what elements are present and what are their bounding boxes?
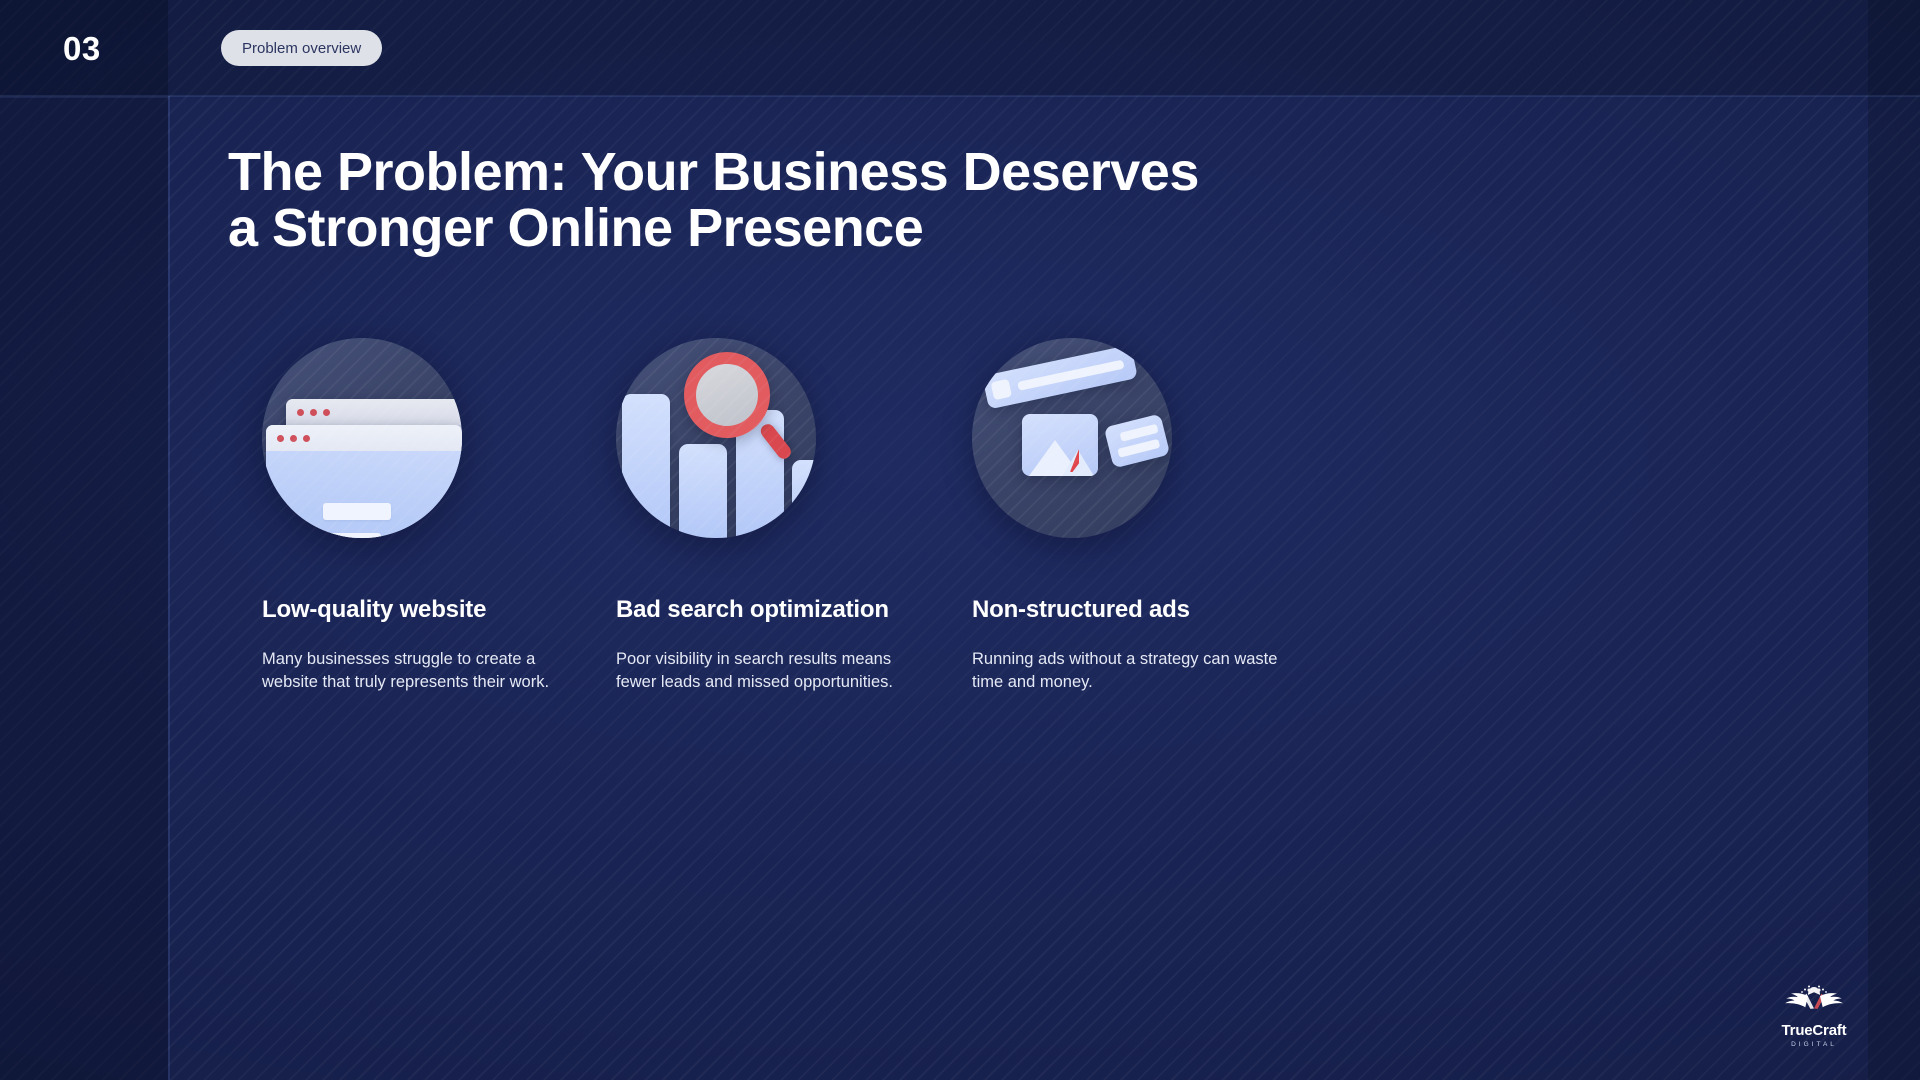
card-description: Running ads without a strategy can waste… xyxy=(972,648,1282,695)
ad-text-bar xyxy=(1017,360,1125,391)
ad-text-bar xyxy=(1117,439,1160,458)
ad-image-card xyxy=(1022,414,1098,476)
content-placeholder-bar xyxy=(299,533,381,538)
brand-logo: TrueCraft DIGITAL xyxy=(1762,976,1866,1048)
browser-windows-icon xyxy=(262,338,462,538)
slide-root: 03 Problem overview The Problem: Your Bu… xyxy=(0,0,1920,1080)
card-title: Low-quality website xyxy=(262,596,640,624)
header-divider-left xyxy=(0,97,168,98)
sidebar-divider xyxy=(168,96,170,1080)
window-dot-red xyxy=(310,409,317,416)
section-badge: Problem overview xyxy=(221,30,382,66)
browser-titlebar xyxy=(266,425,462,451)
magnifier-lens xyxy=(684,352,770,438)
chart-bar xyxy=(679,444,727,538)
chart-bar xyxy=(792,460,816,538)
browser-window-front xyxy=(266,425,462,538)
problem-card: Non-structured ads Running ads without a… xyxy=(972,338,1350,695)
logo-tagline: DIGITAL xyxy=(1791,1041,1837,1048)
window-dot-red xyxy=(277,435,284,442)
winged-gear-emblem-icon xyxy=(1762,983,1866,1021)
card-title: Bad search optimization xyxy=(616,596,994,624)
page-title-line-2: a Stronger Online Presence xyxy=(228,200,1328,256)
chart-bar xyxy=(622,394,670,538)
card-description: Many businesses struggle to create a web… xyxy=(262,648,562,695)
slide-right-frame xyxy=(1868,0,1920,1080)
page-number: 03 xyxy=(63,30,101,68)
browser-content xyxy=(266,451,462,538)
page-title: The Problem: Your Business Deserves a St… xyxy=(228,144,1328,256)
card-description: Poor visibility in search results means … xyxy=(616,648,916,695)
ad-banner-card xyxy=(982,345,1138,410)
window-dot-red xyxy=(303,435,310,442)
problem-card-list: Low-quality website Many businesses stru… xyxy=(228,338,1648,695)
problem-card: Low-quality website Many businesses stru… xyxy=(262,338,640,695)
ad-small-card xyxy=(1104,414,1170,469)
logo-wordmark: TrueCraft xyxy=(1782,1022,1847,1039)
header-divider xyxy=(0,95,1920,97)
slide-left-frame xyxy=(0,0,168,1080)
card-title: Non-structured ads xyxy=(972,596,1350,624)
ad-thumbnail-square xyxy=(991,379,1012,400)
problem-card: Bad search optimization Poor visibility … xyxy=(616,338,994,695)
window-dot-red xyxy=(297,409,304,416)
content-placeholder-bar xyxy=(323,503,391,520)
magnifying-glass-bar-chart-icon xyxy=(616,338,816,538)
page-title-line-1: The Problem: Your Business Deserves xyxy=(228,142,1199,202)
ad-cards-icon xyxy=(972,338,1172,538)
browser-titlebar xyxy=(286,399,462,425)
window-dot-red xyxy=(290,435,297,442)
window-dot-red xyxy=(323,409,330,416)
